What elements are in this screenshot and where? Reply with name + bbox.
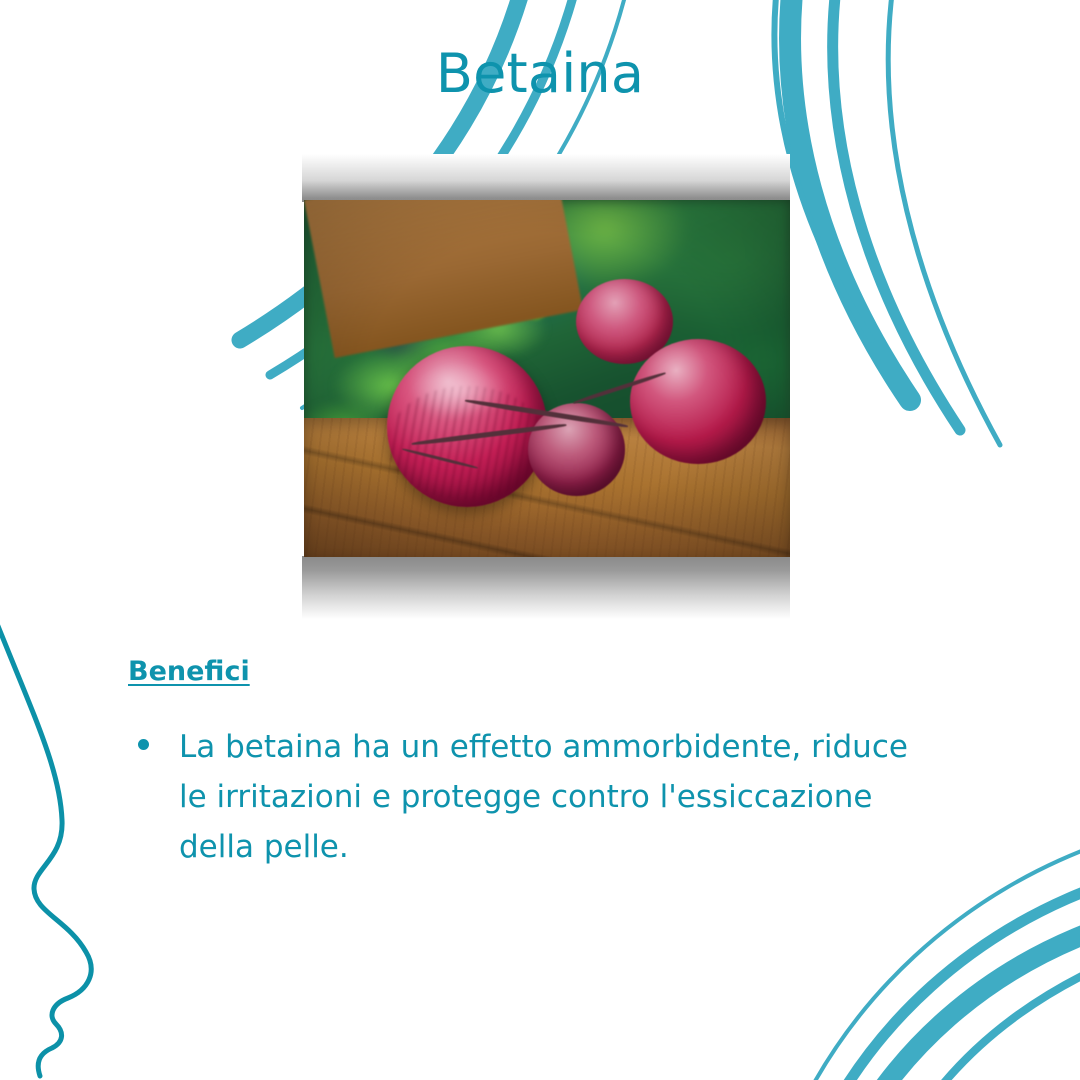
page-title: Betaina xyxy=(0,44,1080,103)
list-item-text: La betaina ha un effetto ammorbidente, r… xyxy=(179,722,918,873)
benefits-list: La betaina ha un effetto ammorbidente, r… xyxy=(128,722,918,873)
image-shadow-top xyxy=(302,154,790,202)
list-item: La betaina ha un effetto ammorbidente, r… xyxy=(128,722,918,873)
beetroot-image xyxy=(304,200,790,557)
slide: Betaina Benefici La bet xyxy=(0,0,1080,1080)
beetroot-image-frame xyxy=(302,154,790,619)
image-shadow-bottom xyxy=(302,556,790,619)
photo-vignette xyxy=(304,200,790,557)
bullet-dot-icon xyxy=(138,739,149,750)
benefits-heading: Benefici xyxy=(128,656,250,687)
